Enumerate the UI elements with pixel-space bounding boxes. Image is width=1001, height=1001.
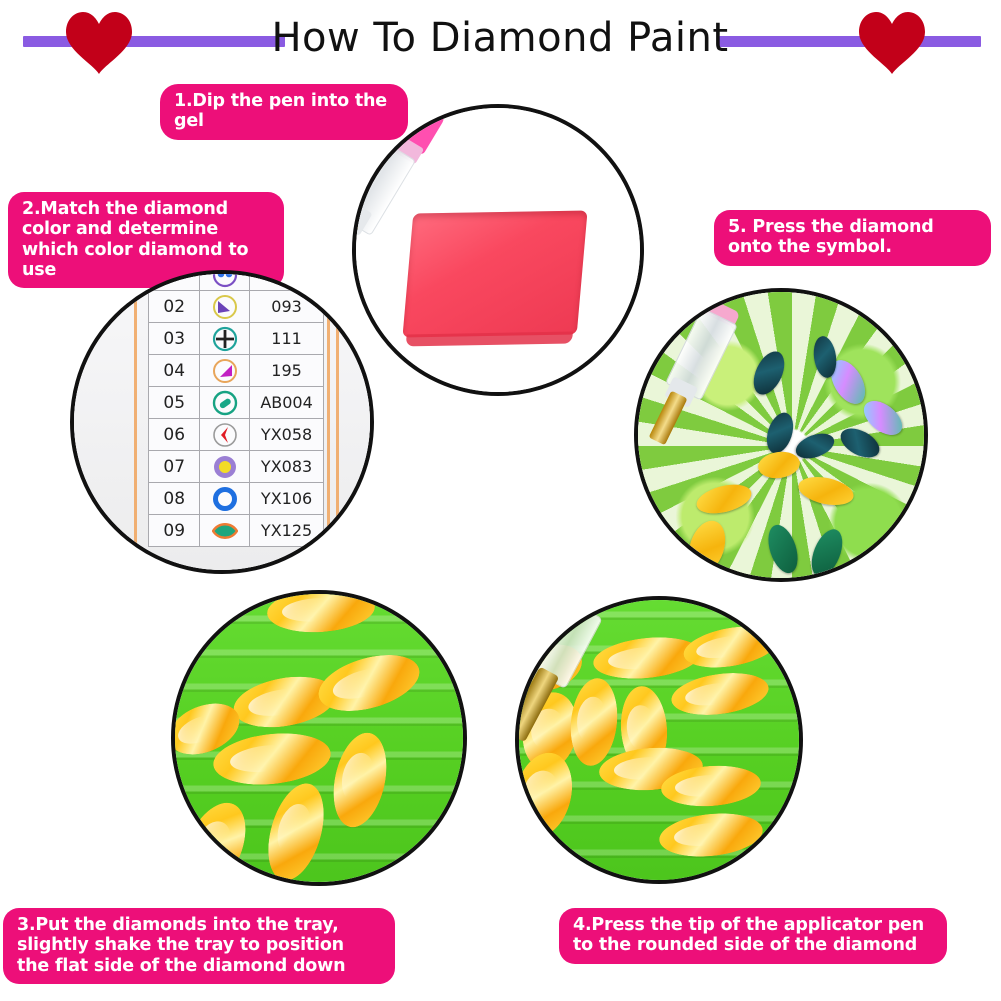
color-chart-code: 04 <box>149 355 200 387</box>
color-chart-code: 08 <box>149 483 200 515</box>
color-chart-symbol <box>200 515 250 547</box>
color-chart-code: 02 <box>149 291 200 323</box>
color-chart-name: 093 <box>250 291 324 323</box>
chart-margin-line <box>336 274 339 570</box>
color-chart-row: 05 AB004 <box>149 387 324 419</box>
dot-in-ring-icon <box>212 454 238 480</box>
pen-tip <box>515 667 559 743</box>
color-chart-code: 09 <box>149 515 200 547</box>
color-chart-row: 08YX106 <box>149 483 324 515</box>
pen-tip <box>649 391 688 446</box>
color-chart-row: 06 YX058 <box>149 419 324 451</box>
color-chart-code <box>149 270 200 291</box>
color-chart-code: 05 <box>149 387 200 419</box>
color-chart-row: 09YX125 <box>149 515 324 547</box>
canvas-placement-scene <box>638 292 924 578</box>
color-chart-code: 06 <box>149 419 200 451</box>
step-5-label: 5. Press the diamond onto the symbol. <box>714 210 991 266</box>
step-5-photo <box>634 288 928 582</box>
color-chart-symbol <box>200 419 250 451</box>
color-chart-row: 07 YX083 <box>149 451 324 483</box>
diamond-tray-scene <box>175 594 463 882</box>
color-chart-row: 02 093 <box>149 291 324 323</box>
color-chart-symbol <box>200 451 250 483</box>
color-chart-row: 04 195 <box>149 355 324 387</box>
donut-icon <box>212 486 238 512</box>
color-chart-name: YX106 <box>250 483 324 515</box>
color-chart-symbol <box>200 355 250 387</box>
triangle-icon <box>212 358 238 384</box>
color-chart-table: 02802 09303 11104 19505 AB00406 YX05807 … <box>148 270 324 547</box>
color-chart-row: 028 <box>149 270 324 291</box>
color-chart-code: 03 <box>149 323 200 355</box>
pickup-diamond-scene <box>519 600 799 880</box>
color-chart-symbol <box>200 483 250 515</box>
color-chart-scene: 02802 09303 11104 19505 AB00406 YX05807 … <box>74 274 370 570</box>
leaf-icon <box>212 518 238 544</box>
color-chart-symbol <box>200 270 250 291</box>
step-4-photo <box>515 596 803 884</box>
color-chart-name: YX058 <box>250 419 324 451</box>
chart-margin-line <box>134 274 137 570</box>
color-chart-name: YX083 <box>250 451 324 483</box>
chevron-left-icon <box>212 422 238 448</box>
color-chart-name: 195 <box>250 355 324 387</box>
color-chart-code: 07 <box>149 451 200 483</box>
color-chart-name: YX125 <box>250 515 324 547</box>
color-chart-name: 028 <box>250 270 324 291</box>
page-title: How To Diamond Paint <box>250 12 750 64</box>
color-chart-row: 03 111 <box>149 323 324 355</box>
pen-and-gel-scene <box>356 108 640 392</box>
step-3-label: 3.Put the diamonds into the tray, slight… <box>3 908 395 984</box>
capsule-icon <box>212 390 238 416</box>
heart-icon <box>62 8 136 76</box>
color-chart-name: 111 <box>250 323 324 355</box>
color-chart-name: AB004 <box>250 387 324 419</box>
step-1-photo <box>352 104 644 396</box>
infographic-canvas: How To Diamond Paint 1.Dip the pen into … <box>0 0 1001 1001</box>
color-chart-symbol <box>200 323 250 355</box>
triangle-icon <box>212 294 238 320</box>
color-chart-symbol <box>200 291 250 323</box>
header-rule-right <box>719 36 981 47</box>
plus-icon <box>212 326 238 352</box>
heart-icon <box>855 8 929 76</box>
step-4-label: 4.Press the tip of the applicator pen to… <box>559 908 947 964</box>
double-dot-icon <box>212 270 238 288</box>
gel-pad <box>402 210 587 337</box>
chart-margin-line <box>327 274 330 570</box>
color-chart-symbol <box>200 387 250 419</box>
step-3-photo <box>171 590 467 886</box>
step-2-photo: 02802 09303 11104 19505 AB00406 YX05807 … <box>70 270 374 574</box>
